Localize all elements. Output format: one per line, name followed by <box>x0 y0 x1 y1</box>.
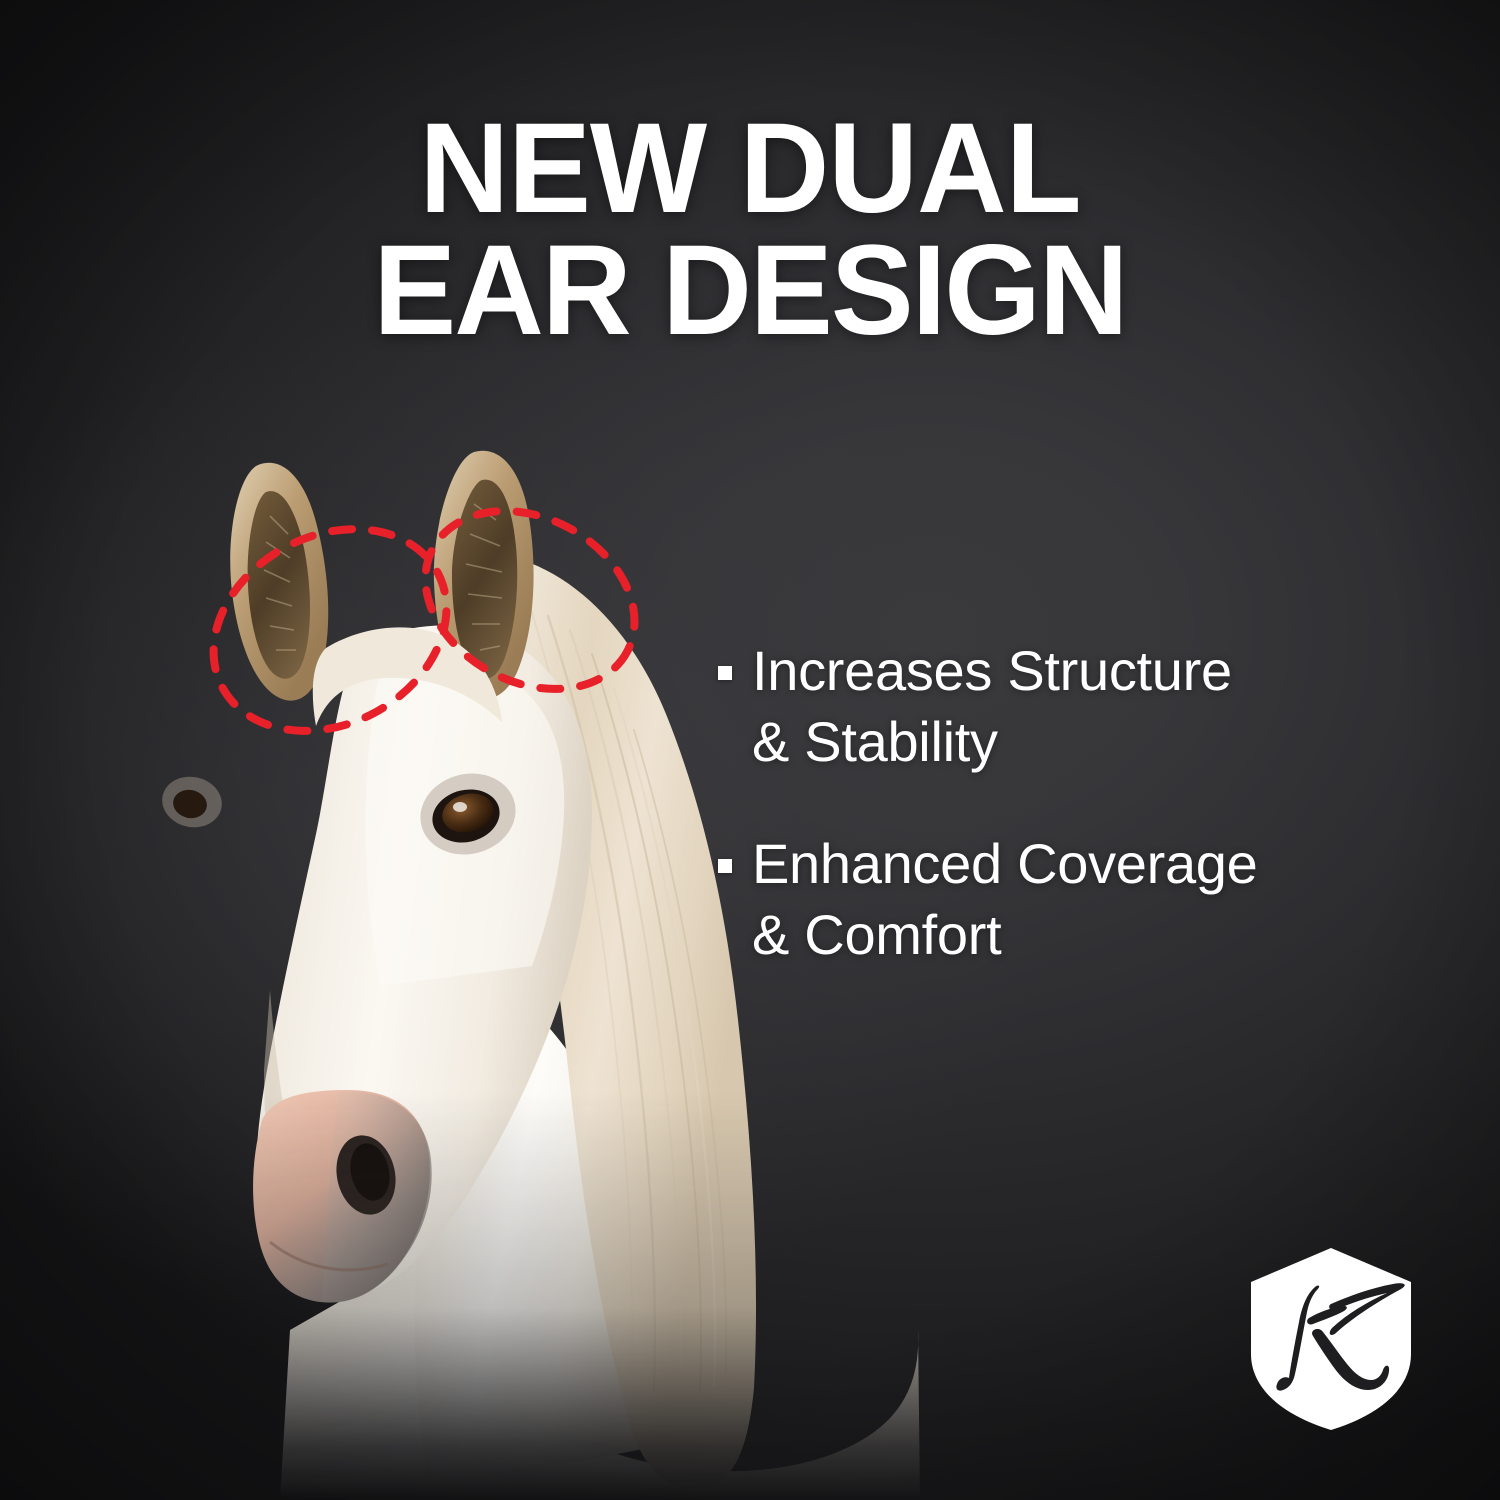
bullet-square-icon <box>718 666 732 680</box>
headline-line-1: NEW DUAL <box>23 108 1478 230</box>
feature-item-text: Enhanced Coverage & Comfort <box>752 829 1258 970</box>
bullet-square-icon <box>718 859 732 873</box>
shield-icon <box>1251 1248 1411 1430</box>
feature-item-line-2: & Stability <box>752 710 998 773</box>
feature-item-line-2: & Comfort <box>752 903 1001 966</box>
feature-list: Increases Structure & Stability Enhanced… <box>718 636 1408 1022</box>
brand-logo <box>1243 1246 1419 1432</box>
headline-line-2: EAR DESIGN <box>23 230 1478 352</box>
feature-item-line-1: Enhanced Coverage <box>752 832 1258 895</box>
headline: NEW DUAL EAR DESIGN <box>23 108 1478 351</box>
feature-item-text: Increases Structure & Stability <box>752 636 1232 777</box>
feature-item: Enhanced Coverage & Comfort <box>718 829 1408 970</box>
horse-eye-left <box>157 771 226 832</box>
feature-item: Increases Structure & Stability <box>718 636 1408 777</box>
feature-item-line-1: Increases Structure <box>752 639 1232 702</box>
marketing-image-canvas: NEW DUAL EAR DESIGN <box>0 0 1500 1500</box>
